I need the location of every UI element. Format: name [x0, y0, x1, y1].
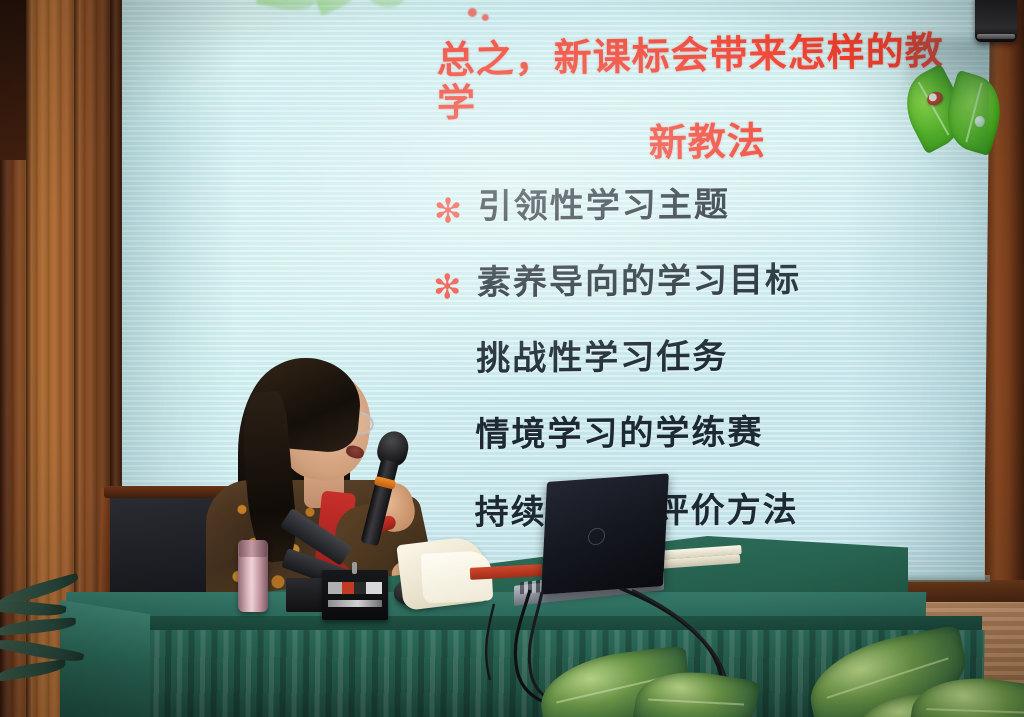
- slide-bullet-list: ✻ 引领性学习主题 ✻ 素养导向的学习目标 ✻ 挑战性学习任务 ✻ 情境学习的学…: [430, 188, 994, 570]
- wall-dark-strip: [0, 0, 26, 160]
- leaf-wisp-icon: [360, 0, 412, 17]
- plant-leaf: [0, 659, 67, 682]
- name-plate: [322, 570, 388, 620]
- thermos-cap: [239, 540, 267, 557]
- slide-bullet-text: 挑战性学习任务: [476, 340, 728, 376]
- name-plate-label-secondary: [328, 600, 382, 607]
- presentation-scene: 总之，新课标会带来怎样的教学 新教法 ✻ 引领性学习主题 ✻ 素养导向的学习目标…: [0, 0, 1024, 717]
- slide-bullet-item: ✻ 持续性学习评价方法: [431, 492, 991, 535]
- asterisk-bullet-icon: ✻: [434, 190, 460, 228]
- thermos-bottle[interactable]: [238, 540, 268, 612]
- slide-bullet-item: ✻ 引领性学习主题: [434, 186, 994, 229]
- plant-leaf: [0, 598, 66, 618]
- ceiling-speaker-icon: [975, 0, 1017, 42]
- potted-plant-foreground: [540, 630, 1024, 717]
- speaker-shadow: [905, 38, 995, 148]
- slide-bullet-item: ✻ 挑战性学习任务: [432, 338, 992, 381]
- slide-bullet-text: 引领性学习主题: [478, 188, 730, 224]
- name-plate-label: [328, 582, 382, 594]
- slide-bullet-item: ✻ 情境学习的学练赛: [431, 414, 991, 457]
- slide-bullet-text: 情境学习的学练赛: [475, 416, 763, 453]
- slide-bullet-item: ✻ 素养导向的学习目标: [433, 262, 993, 305]
- bokeh-dot: [468, 8, 477, 17]
- slide-title-line1: 总之，新课标会带来怎样的教学: [436, 29, 977, 126]
- leaf-wisp-icon: [256, 0, 318, 16]
- slide-bullet-text: 素养导向的学习目标: [477, 263, 801, 300]
- leaf-vein: [648, 698, 744, 705]
- bokeh-dot: [482, 14, 489, 21]
- laptop-computer[interactable]: [534, 478, 674, 608]
- leaf-wisp-icon: [310, 0, 364, 16]
- slide-title-line2: 新教法: [437, 115, 977, 169]
- asterisk-bullet-icon: ✻: [433, 266, 459, 304]
- slide-title: 总之，新课标会带来怎样的教学 新教法: [436, 29, 977, 169]
- speaker-rim: [977, 34, 1015, 39]
- dark-plant-leaves: [0, 576, 104, 686]
- plant-leaf: [0, 617, 76, 635]
- name-plate-post: [352, 562, 357, 574]
- laptop-lid: [541, 473, 669, 594]
- leaf-vein: [926, 708, 1024, 714]
